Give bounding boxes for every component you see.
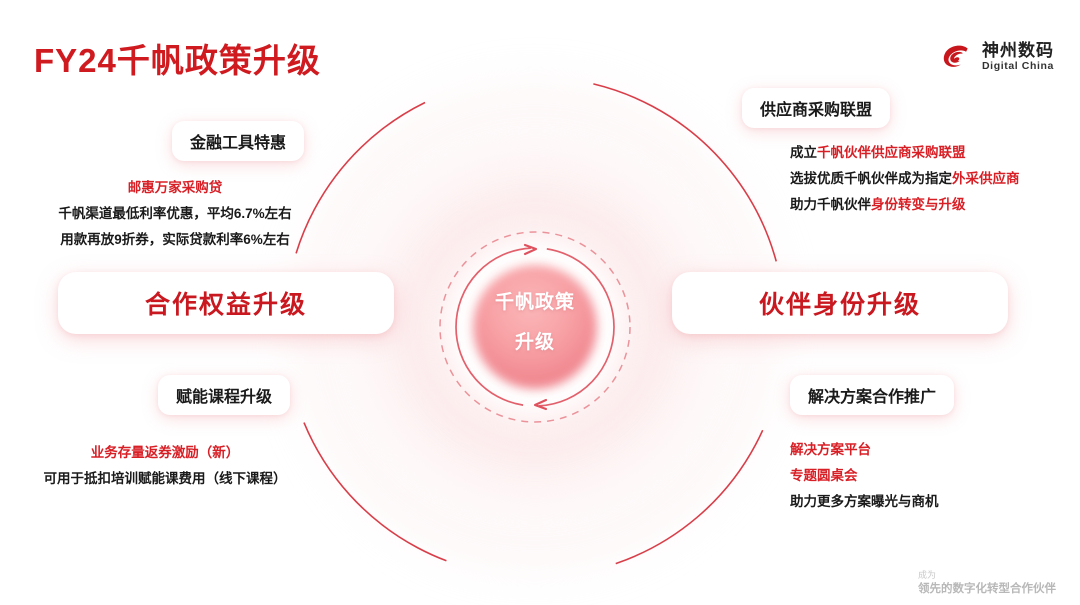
line-top-right-3: 助力千帆伙伴身份转变与升级 [790, 192, 1020, 218]
line-bottom-right-2: 专题圆桌会 [790, 463, 939, 489]
chip-financial-tools[interactable]: 金融工具特惠 [172, 121, 304, 161]
chip-supplier-alliance[interactable]: 供应商采购联盟 [742, 88, 890, 128]
core-label-line2: 升级 [450, 323, 620, 363]
line-bottom-right-1: 解决方案平台 [790, 437, 939, 463]
watermark-line1: 成为 [918, 569, 1056, 582]
swirl-icon [939, 40, 973, 74]
brand-name-en: Digital China [982, 61, 1054, 72]
text-block-top-left: 邮惠万家采购贷 千帆渠道最低利率优惠，平均6.7%左右 用款再放9折券，实际贷款… [0, 175, 350, 253]
brand-logo: 神州数码 Digital China [939, 40, 1054, 74]
brand-logo-text: 神州数码 Digital China [982, 42, 1054, 73]
heading-top-left: 邮惠万家采购贷 [0, 175, 350, 201]
watermark-line2: 领先的数字化转型合作伙伴 [918, 582, 1056, 597]
line-bottom-right-3: 助力更多方案曝光与商机 [790, 489, 939, 515]
pill-partner-benefits-upgrade[interactable]: 合作权益升级 [58, 272, 394, 334]
core-label-line1: 千帆政策 [450, 283, 620, 323]
line-top-left-1: 千帆渠道最低利率优惠，平均6.7%左右 [0, 201, 350, 227]
pill-partner-identity-upgrade[interactable]: 伙伴身份升级 [672, 272, 1008, 334]
line-top-left-2: 用款再放9折券，实际贷款利率6%左右 [0, 227, 350, 253]
line-bottom-left-1: 可用于抵扣培训赋能课费用（线下课程） [0, 466, 330, 492]
line-top-right-2: 选拔优质千帆伙伴成为指定外采供应商 [790, 166, 1020, 192]
page-title: FY24千帆政策升级 [34, 34, 321, 82]
line-top-right-1: 成立千帆伙伴供应商采购联盟 [790, 140, 1020, 166]
chip-course-upgrade[interactable]: 赋能课程升级 [158, 375, 290, 415]
brand-name-cn: 神州数码 [982, 42, 1054, 60]
text-block-top-right: 成立千帆伙伴供应商采购联盟 选拔优质千帆伙伴成为指定外采供应商 助力千帆伙伴身份… [790, 140, 1020, 218]
footer-watermark: 成为 领先的数字化转型合作伙伴 [918, 569, 1056, 597]
core-label: 千帆政策 升级 [450, 283, 620, 363]
text-block-bottom-left: 业务存量返券激励（新） 可用于抵扣培训赋能课费用（线下课程） [0, 440, 330, 492]
text-block-bottom-right: 解决方案平台 专题圆桌会 助力更多方案曝光与商机 [790, 437, 939, 515]
heading-bottom-left: 业务存量返券激励（新） [0, 440, 330, 466]
chip-solution-promotion[interactable]: 解决方案合作推广 [790, 375, 954, 415]
slide-canvas: 千帆政策 升级 FY24千帆政策升级 神州数码 Digital China 金融… [0, 0, 1080, 605]
